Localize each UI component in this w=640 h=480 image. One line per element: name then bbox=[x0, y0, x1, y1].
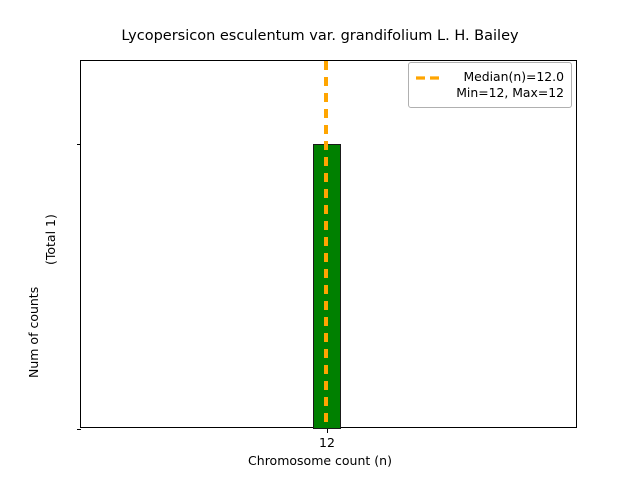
legend-label-group: Median(n)=12.0 Min=12, Max=12 bbox=[453, 69, 564, 101]
x-axis-label: Chromosome count (n) bbox=[0, 453, 640, 468]
legend-label-median: Median(n)=12.0 bbox=[453, 69, 564, 85]
chart-title: Lycopersicon esculentum var. grandifoliu… bbox=[0, 28, 640, 44]
legend-label-minmax: Min=12, Max=12 bbox=[453, 85, 564, 101]
x-tick-mark-12 bbox=[327, 429, 328, 433]
median-reference-line bbox=[324, 61, 328, 429]
plot-axes: 12 bbox=[80, 60, 577, 428]
y-tick-mark-1 bbox=[77, 144, 81, 145]
legend-box: Median(n)=12.0 Min=12, Max=12 bbox=[408, 62, 572, 108]
y-axis-label-total: (Total 1) bbox=[43, 214, 58, 265]
legend-entry-median: Median(n)=12.0 Min=12, Max=12 bbox=[415, 69, 564, 101]
plot-area: 12 bbox=[81, 61, 576, 427]
dashed-line-icon bbox=[415, 70, 445, 86]
y-axis-label-main: Num of counts bbox=[26, 287, 41, 378]
x-tick-label-12: 12 bbox=[319, 435, 335, 450]
y-tick-mark-0 bbox=[77, 429, 81, 430]
matplotlib-figure: Lycopersicon esculentum var. grandifoliu… bbox=[0, 0, 640, 480]
